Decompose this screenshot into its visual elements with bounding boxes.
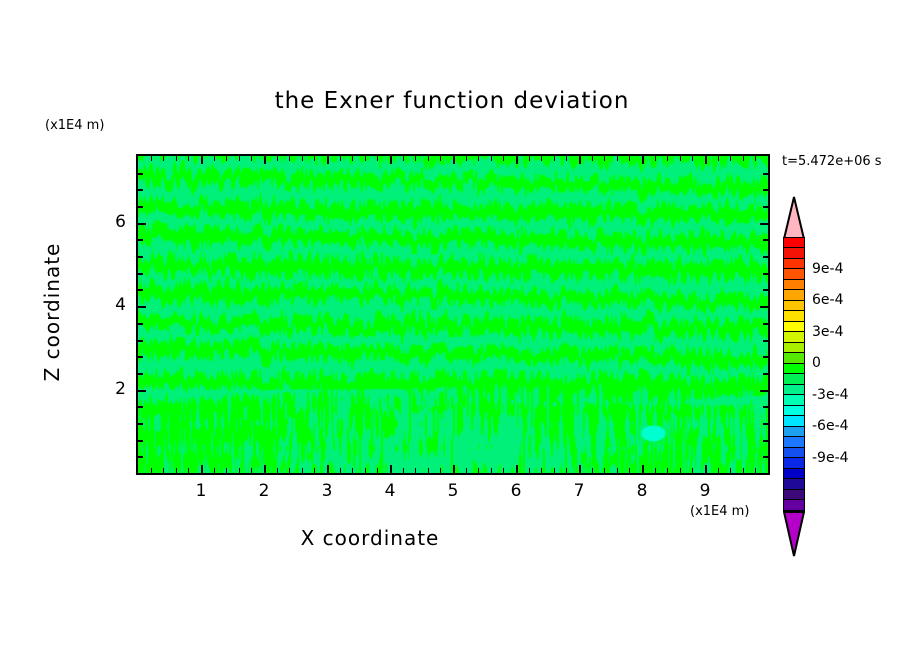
- axis-tick: [763, 239, 768, 241]
- axis-tick: [680, 468, 681, 473]
- axis-tick: [201, 465, 203, 473]
- axis-tick: [428, 156, 429, 161]
- axis-tick: [138, 173, 143, 175]
- axis-tick: [352, 156, 353, 161]
- axis-tick: [680, 156, 681, 161]
- colorbar-tick-label: 9e-4: [812, 261, 843, 277]
- axis-tick: [453, 465, 455, 473]
- contour-field: [138, 156, 768, 473]
- axis-tick: [302, 156, 303, 161]
- axis-tick: [138, 273, 143, 275]
- axis-tick: [760, 306, 768, 308]
- axis-tick: [314, 156, 315, 161]
- y-axis-title: Z coordinate: [40, 202, 64, 422]
- axis-tick: [516, 156, 518, 164]
- axis-tick: [763, 406, 768, 408]
- axis-tick: [138, 440, 143, 442]
- axis-tick: [390, 156, 392, 164]
- axis-tick: [503, 156, 504, 161]
- axis-tick: [466, 156, 467, 161]
- axis-tick: [428, 468, 429, 473]
- axis-tick: [763, 440, 768, 442]
- axis-tick: [763, 273, 768, 275]
- axis-tick: [763, 340, 768, 342]
- axis-tick: [377, 156, 378, 161]
- axis-tick: [529, 156, 530, 161]
- axis-tick: [138, 390, 146, 392]
- axis-tick: [755, 156, 756, 161]
- axis-tick: [642, 465, 644, 473]
- colorbar-tick-label: 3e-4: [812, 324, 843, 340]
- axis-tick: [579, 156, 581, 164]
- axis-tick: [503, 468, 504, 473]
- axis-tick: [138, 189, 143, 191]
- x-axis-unit-label: (x1E4 m): [690, 504, 749, 519]
- axis-tick: [760, 223, 768, 225]
- axis-tick: [138, 340, 143, 342]
- axis-tick: [541, 468, 542, 473]
- axis-tick: [138, 423, 143, 425]
- axis-tick: [642, 156, 644, 164]
- axis-tick: [138, 306, 146, 308]
- axis-tick: [138, 239, 143, 241]
- axis-tick: [592, 468, 593, 473]
- axis-tick: [151, 156, 152, 161]
- axis-tick: [138, 323, 143, 325]
- axis-tick: [629, 468, 630, 473]
- x-tick-label: 4: [375, 481, 405, 501]
- axis-tick: [755, 468, 756, 473]
- x-tick-label: 7: [564, 481, 594, 501]
- axis-tick: [302, 468, 303, 473]
- axis-tick: [491, 468, 492, 473]
- colorbar-tick-label: -9e-4: [812, 450, 849, 466]
- axis-tick: [718, 468, 719, 473]
- axis-tick: [566, 156, 567, 161]
- axis-tick: [440, 156, 441, 161]
- axis-tick: [667, 156, 668, 161]
- axis-tick: [760, 390, 768, 392]
- axis-tick: [327, 465, 329, 473]
- colorbar-under-arrow: [783, 511, 805, 557]
- axis-tick: [365, 156, 366, 161]
- axis-tick: [705, 156, 707, 164]
- axis-tick: [251, 156, 252, 161]
- axis-tick: [251, 468, 252, 473]
- axis-tick: [617, 156, 618, 161]
- colorbar-arrow-shape: [783, 511, 805, 557]
- axis-tick: [730, 156, 731, 161]
- axis-tick: [138, 373, 143, 375]
- axis-tick: [403, 468, 404, 473]
- axis-tick: [214, 468, 215, 473]
- axis-tick: [264, 465, 266, 473]
- x-tick-label: 8: [627, 481, 657, 501]
- axis-tick: [226, 468, 227, 473]
- axis-tick: [692, 156, 693, 161]
- axis-tick: [763, 456, 768, 458]
- axis-tick: [478, 468, 479, 473]
- axis-tick: [655, 468, 656, 473]
- axis-tick: [763, 423, 768, 425]
- colorbar[interactable]: [783, 238, 805, 511]
- axis-tick: [277, 468, 278, 473]
- axis-tick: [763, 356, 768, 358]
- page-title: the Exner function deviation: [0, 88, 904, 114]
- axis-tick: [763, 256, 768, 258]
- axis-tick: [201, 156, 203, 164]
- axis-tick: [138, 256, 143, 258]
- axis-tick: [415, 156, 416, 161]
- axis-tick: [138, 289, 143, 291]
- colorbar-tick-label: 0: [812, 355, 821, 371]
- axis-tick: [554, 468, 555, 473]
- y-tick-label: 2: [96, 379, 126, 399]
- axis-tick: [277, 156, 278, 161]
- x-axis-title: X coordinate: [0, 526, 740, 550]
- axis-tick: [176, 468, 177, 473]
- axis-tick: [138, 206, 143, 208]
- axis-tick: [763, 189, 768, 191]
- axis-tick: [763, 373, 768, 375]
- axis-tick: [314, 468, 315, 473]
- axis-tick: [289, 156, 290, 161]
- axis-tick: [579, 465, 581, 473]
- axis-tick: [516, 465, 518, 473]
- colorbar-tick-label: -3e-4: [812, 387, 849, 403]
- axis-tick: [138, 406, 143, 408]
- axis-tick: [718, 156, 719, 161]
- colorbar-over-arrow: [783, 196, 805, 240]
- axis-tick: [188, 468, 189, 473]
- axis-tick: [705, 465, 707, 473]
- axis-tick: [226, 156, 227, 161]
- axis-tick: [239, 468, 240, 473]
- colorbar-arrow-shape: [783, 196, 805, 240]
- axis-tick: [415, 468, 416, 473]
- axis-tick: [730, 468, 731, 473]
- axis-tick: [763, 173, 768, 175]
- axis-tick: [541, 156, 542, 161]
- contour-plot-area: [136, 154, 770, 475]
- x-tick-label: 6: [501, 481, 531, 501]
- axis-tick: [390, 465, 392, 473]
- axis-tick: [763, 323, 768, 325]
- axis-tick: [478, 156, 479, 161]
- axis-tick: [138, 456, 143, 458]
- axis-tick: [667, 468, 668, 473]
- axis-tick: [604, 468, 605, 473]
- axis-tick: [289, 468, 290, 473]
- y-tick-label: 6: [96, 212, 126, 232]
- axis-tick: [440, 468, 441, 473]
- x-tick-label: 2: [249, 481, 279, 501]
- axis-tick: [163, 156, 164, 161]
- axis-tick: [365, 468, 366, 473]
- y-axis-unit-label: (x1E4 m): [45, 118, 104, 133]
- colorbar-tick-label: 6e-4: [812, 292, 843, 308]
- axis-tick: [151, 468, 152, 473]
- axis-tick: [592, 156, 593, 161]
- axis-tick: [340, 156, 341, 161]
- colorbar-swatch: [783, 499, 805, 511]
- axis-tick: [743, 156, 744, 161]
- timestamp-label: t=5.472e+06 s: [782, 154, 882, 169]
- axis-tick: [340, 468, 341, 473]
- axis-tick: [466, 468, 467, 473]
- axis-tick: [655, 156, 656, 161]
- x-tick-label: 5: [438, 481, 468, 501]
- axis-tick: [176, 156, 177, 161]
- axis-tick: [566, 468, 567, 473]
- axis-tick: [763, 206, 768, 208]
- y-tick-label: 4: [96, 295, 126, 315]
- axis-tick: [491, 156, 492, 161]
- axis-tick: [138, 223, 146, 225]
- axis-tick: [327, 156, 329, 164]
- axis-tick: [239, 156, 240, 161]
- x-tick-label: 3: [312, 481, 342, 501]
- axis-tick: [743, 468, 744, 473]
- x-tick-label: 1: [186, 481, 216, 501]
- axis-tick: [617, 468, 618, 473]
- axis-tick: [163, 468, 164, 473]
- axis-tick: [264, 156, 266, 164]
- x-tick-label: 9: [690, 481, 720, 501]
- axis-tick: [604, 156, 605, 161]
- axis-tick: [529, 468, 530, 473]
- axis-tick: [214, 156, 215, 161]
- axis-tick: [352, 468, 353, 473]
- axis-tick: [403, 156, 404, 161]
- axis-tick: [629, 156, 630, 161]
- axis-tick: [138, 356, 143, 358]
- axis-tick: [377, 468, 378, 473]
- axis-tick: [554, 156, 555, 161]
- axis-tick: [453, 156, 455, 164]
- axis-tick: [692, 468, 693, 473]
- axis-tick: [763, 289, 768, 291]
- axis-tick: [188, 156, 189, 161]
- colorbar-tick-label: -6e-4: [812, 418, 849, 434]
